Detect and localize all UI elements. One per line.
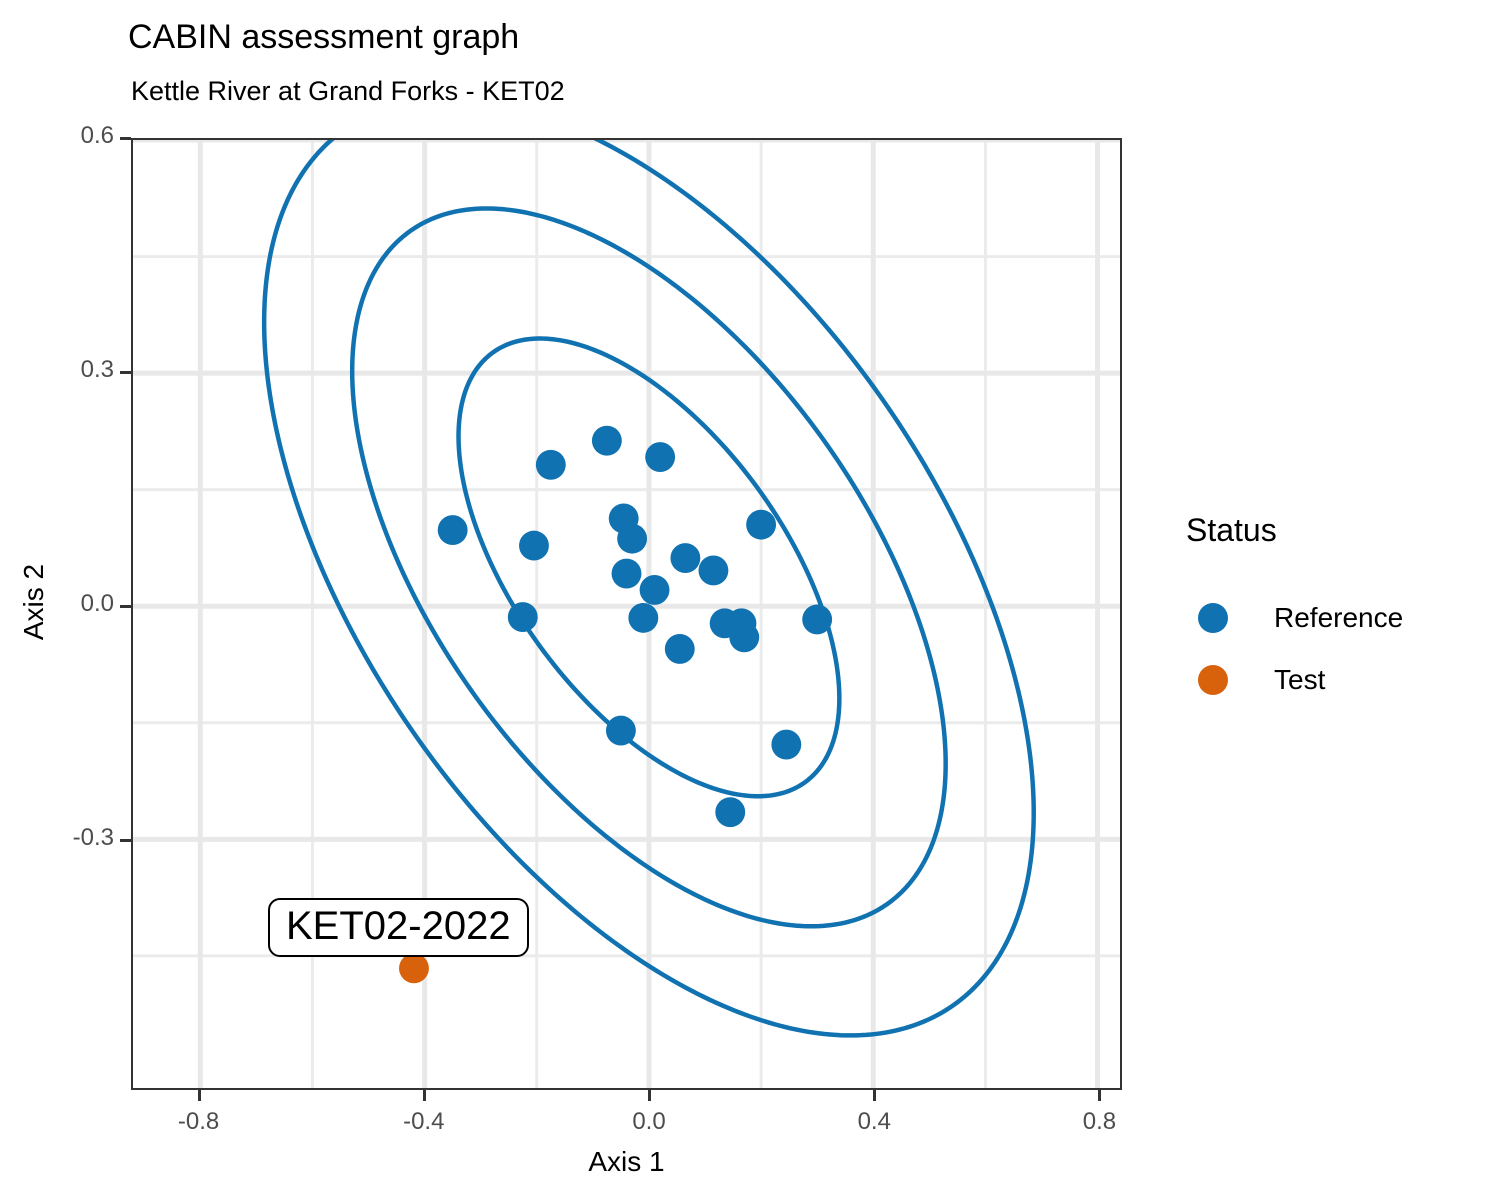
y-tick-mark <box>120 839 131 842</box>
legend: Status Reference Test <box>1186 512 1486 711</box>
x-tick-label: 0.0 <box>589 1108 709 1136</box>
data-point-reference[interactable] <box>645 442 675 472</box>
legend-title: Status <box>1186 512 1486 549</box>
data-point-reference[interactable] <box>612 559 642 589</box>
y-tick-mark <box>120 137 131 140</box>
legend-key-reference <box>1186 603 1240 633</box>
data-point-reference[interactable] <box>698 556 728 586</box>
x-tick-label: 0.8 <box>1039 1108 1159 1136</box>
data-point-reference[interactable] <box>746 510 776 540</box>
data-point-reference[interactable] <box>628 603 658 633</box>
y-tick-label: 0.0 <box>24 590 114 618</box>
data-point-reference[interactable] <box>536 450 566 480</box>
x-tick-label: 0.4 <box>814 1108 934 1136</box>
legend-label-reference: Reference <box>1274 602 1403 634</box>
legend-label-test: Test <box>1274 664 1325 696</box>
x-tick-mark <box>873 1090 876 1101</box>
legend-item-test[interactable]: Test <box>1186 649 1486 711</box>
data-point-reference[interactable] <box>438 515 468 545</box>
y-tick-mark <box>120 371 131 374</box>
data-point-reference[interactable] <box>771 730 801 760</box>
page-subtitle: Kettle River at Grand Forks - KET02 <box>131 76 565 107</box>
data-point-reference[interactable] <box>715 797 745 827</box>
x-tick-mark <box>198 1090 201 1101</box>
x-tick-label: -0.8 <box>139 1108 259 1136</box>
x-axis-title: Axis 1 <box>0 1146 1253 1178</box>
data-point-reference[interactable] <box>802 605 832 635</box>
test-point-label: KET02-2022 <box>268 898 529 957</box>
data-point-reference[interactable] <box>670 543 700 573</box>
x-tick-mark <box>423 1090 426 1101</box>
data-point-reference[interactable] <box>665 634 695 664</box>
x-tick-label: -0.4 <box>364 1108 484 1136</box>
data-point-reference[interactable] <box>640 575 670 605</box>
circle-icon <box>1198 603 1228 633</box>
legend-key-test <box>1186 665 1240 695</box>
x-tick-mark <box>648 1090 651 1101</box>
data-point-reference[interactable] <box>729 622 759 652</box>
data-point-reference[interactable] <box>519 531 549 561</box>
y-tick-mark <box>120 605 131 608</box>
circle-icon <box>1198 665 1228 695</box>
y-tick-label: -0.3 <box>24 824 114 852</box>
page-title: CABIN assessment graph <box>128 18 519 57</box>
x-tick-mark <box>1098 1090 1101 1101</box>
y-tick-label: 0.3 <box>24 356 114 384</box>
data-point-test[interactable] <box>399 953 429 983</box>
data-point-reference[interactable] <box>606 716 636 746</box>
data-point-reference[interactable] <box>592 426 622 456</box>
legend-item-reference[interactable]: Reference <box>1186 587 1486 649</box>
data-point-reference[interactable] <box>617 524 647 554</box>
y-tick-label: 0.6 <box>24 122 114 150</box>
chart-root: CABIN assessment graph Kettle River at G… <box>0 0 1500 1200</box>
data-point-reference[interactable] <box>508 602 538 632</box>
